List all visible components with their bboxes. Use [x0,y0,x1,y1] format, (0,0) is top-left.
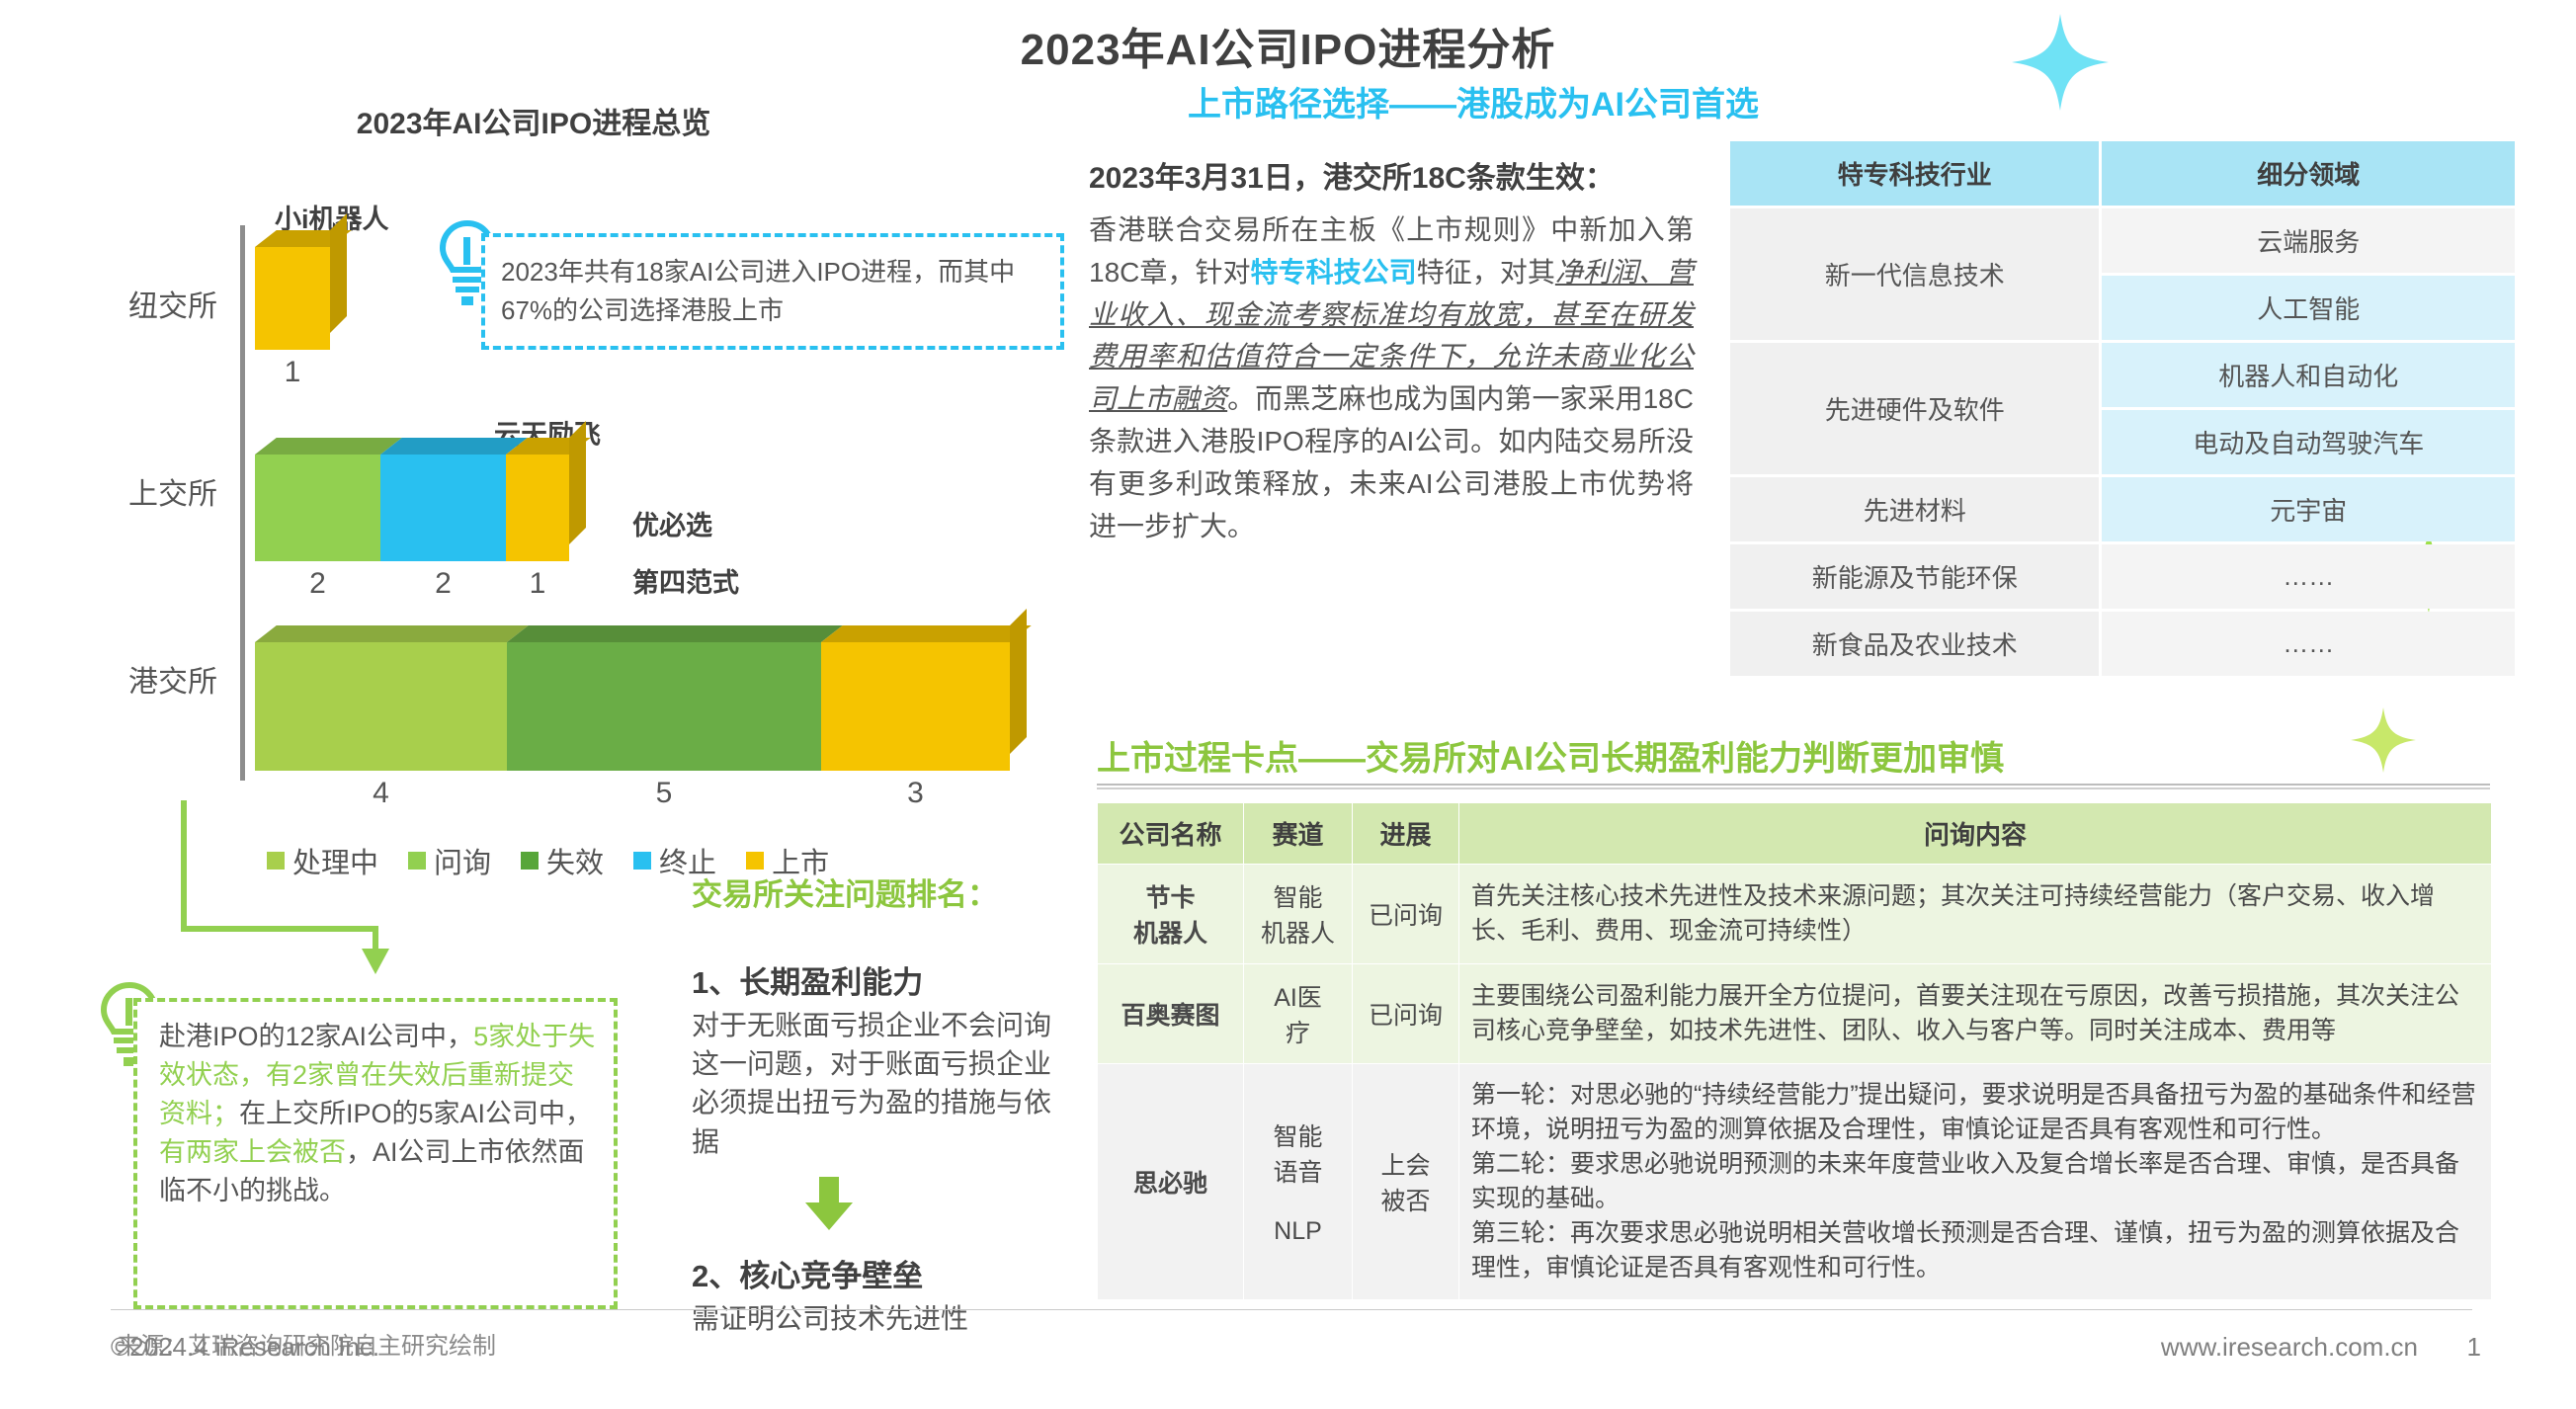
cell-field: 元宇宙 [2102,477,2515,541]
table-row: 先进材料 元宇宙 [1730,477,2515,541]
table-header-row: 特专科技行业 细分领域 [1730,141,2515,206]
ipo-progress-chart: 纽交所 上交所 港交所 小i机器人 1 云天励飞 2 2 1 优必选 第四范式 … [0,207,1077,820]
table-header-progress: 进展 [1353,803,1459,865]
cell-industry: 先进硬件及软件 [1730,343,2099,474]
bar-segment-processing [255,642,507,771]
cell-inquiry-content: 主要围绕公司盈利能力展开全方位提问，首要关注现在亏原因，改善亏损措施，其次关注公… [1459,964,2492,1064]
table-row: 思必驰 智能 语音 NLP 上会 被否 第一轮：对思必驰的“持续经营能力”提出疑… [1098,1064,2492,1300]
inquiry-table: 公司名称 赛道 进展 问询内容 节卡 机器人 智能 机器人 已问询 首先关注核心… [1097,802,2492,1300]
chart-value-label: 2 [255,567,380,601]
bar-segment-lapsed [507,642,821,771]
cell-inquiry-content: 首先关注核心技术先进性及技术来源问题；其次关注可持续经营能力（客户交易、收入增长… [1459,865,2492,964]
footer-website: www.iresearch.com.cn [2161,1332,2418,1363]
cell-progress: 已问询 [1353,964,1459,1064]
footer-divider [111,1309,2472,1310]
cell-field: 人工智能 [2102,276,2515,340]
cell-track: 智能 语音 NLP [1244,1064,1353,1300]
chart-company-label: 优必选 [632,504,712,542]
table-header-company: 公司名称 [1098,803,1244,865]
cell-inquiry-content: 第一轮：对思必驰的“持续经营能力”提出疑问，要求说明是否具备扭亏为盈的基础条件和… [1459,1064,2492,1300]
section-divider [1097,784,2490,789]
legend-swatch-icon [633,852,651,870]
bar-segment-listed [821,642,1010,771]
table-header-track: 赛道 [1244,803,1353,865]
sparkle-icon [2347,704,2420,777]
page-number: 1 [2467,1332,2481,1363]
callout-green-box: 赴港IPO的12家AI公司中，5家处于失效状态，有2家曾在失效后重新提交资料；在… [133,998,618,1309]
cell-field: 云端服务 [2102,208,2515,273]
left-panel: 2023年AI公司IPO进程总览 2023年共有18家AI公司进入IPO进程，而… [0,79,1077,1304]
chart-value-label: 5 [507,777,821,810]
connector-arrow-icon [178,800,464,978]
cell-industry: 先进材料 [1730,477,2099,541]
cell-industry: 新食品及农业技术 [1730,612,2099,676]
table-row: 新一代信息技术 云端服务 [1730,208,2515,273]
table-header-content: 问询内容 [1459,803,2492,865]
cell-track: 智能 机器人 [1244,865,1353,964]
cell-industry: 新能源及节能环保 [1730,544,2099,609]
table-header-field: 细分领域 [2102,141,2515,206]
bar-segment-listed [255,247,330,350]
chart-value-label: 3 [821,777,1010,810]
legend-swatch-icon [521,852,539,870]
cell-company: 节卡 机器人 [1098,865,1244,964]
cell-field: …… [2102,544,2515,609]
ranking-item-1-body: 对于无账面亏损企业不会问询这一问题，对于账面亏损企业必须提出扭亏为盈的措施与依据 [692,1006,1067,1161]
footer-copyright: ©2024.4 iResearch Inc. [111,1332,379,1363]
ranking-title: 交易所关注问题排名： [692,870,1067,914]
callout-green-line1: 赴港IPO的12家AI公司中， [159,1022,473,1051]
table-row: 新食品及农业技术 …… [1730,612,2515,676]
cell-field: 电动及自动驾驶汽车 [2102,410,2515,474]
cell-progress: 上会 被否 [1353,1064,1459,1300]
table-row: 先进硬件及软件 机器人和自动化 [1730,343,2515,407]
bar-segment-terminated [380,455,506,561]
bar-segment-listed [506,455,569,561]
chart-category-label: 上交所 [59,469,217,513]
callout-green-text: 赴港IPO的12家AI公司中，5家处于失效状态，有2家曾在失效后重新提交资料；在… [159,1018,596,1209]
cell-field: …… [2102,612,2515,676]
chart-company-label: 第四范式 [632,561,739,600]
para-part-2: 特征，对其 [1417,257,1555,288]
cell-progress: 已问询 [1353,865,1459,964]
legend-swatch-icon [746,852,764,870]
table-header-row: 公司名称 赛道 进展 问询内容 [1098,803,2492,865]
ranking-item-1-heading: 1、长期盈利能力 [692,957,1067,1002]
chart-category-label: 港交所 [59,657,217,701]
down-arrow-icon [800,1175,858,1232]
chart-title: 2023年AI公司IPO进程总览 [198,99,870,142]
cell-company: 思必驰 [1098,1064,1244,1300]
callout-green-line3: 在上交所IPO的5家AI公司中， [239,1099,592,1128]
bar-segment-processing [255,455,380,561]
cell-field: 机器人和自动化 [2102,343,2515,407]
chart-value-label: 1 [506,567,569,601]
callout-green-line4: 有两家上会被否 [159,1137,346,1167]
section-heading-listing-blockers: 上市过程卡点——交易所对AI公司长期盈利能力判断更加审慎 [1097,731,2004,780]
cell-company: 百奥赛图 [1098,964,1244,1064]
section-heading-listing-path: 上市路径选择——港股成为AI公司首选 [1188,77,1759,125]
sparkle-icon [2006,8,2115,117]
legend-item: 失效 [521,840,604,881]
ranking-item-2-body: 需证明公司技术先进性 [692,1299,1067,1338]
cell-industry: 新一代信息技术 [1730,208,2099,340]
18c-clause-date: 2023年3月31日，港交所18C条款生效： [1089,153,1682,197]
table-row: 节卡 机器人 智能 机器人 已问询 首先关注核心技术先进性及技术来源问题；其次关… [1098,865,2492,964]
para-highlight: 特专科技公司 [1251,257,1417,288]
chart-category-label: 纽交所 [59,282,217,325]
table-row: 百奥赛图 AI医 疗 已问询 主要围绕公司盈利能力展开全方位提问，首要关注现在亏… [1098,964,2492,1064]
chart-axis [240,225,245,781]
legend-label: 失效 [546,840,604,881]
specialist-tech-table: 特专科技行业 细分领域 新一代信息技术 云端服务 人工智能 先进硬件及软件 机器… [1727,138,2518,679]
right-panel: 上市路径选择——港股成为AI公司首选 2023年3月31日，港交所18C条款生效… [1087,0,2530,1324]
ranking-item-2-heading: 2、核心竞争壁垒 [692,1251,1067,1295]
table-header-industry: 特专科技行业 [1730,141,2099,206]
table-row: 新能源及节能环保 …… [1730,544,2515,609]
chart-value-label: 2 [380,567,506,601]
cell-track: AI医 疗 [1244,964,1353,1064]
exchange-question-ranking: 交易所关注问题排名： 1、长期盈利能力 对于无账面亏损企业不会问询这一问题，对于… [692,870,1067,1338]
18c-clause-paragraph: 香港联合交易所在主板《上市规则》中新加入第18C章，针对特专科技公司特征，对其净… [1089,209,1694,548]
chart-value-label: 1 [255,356,330,389]
